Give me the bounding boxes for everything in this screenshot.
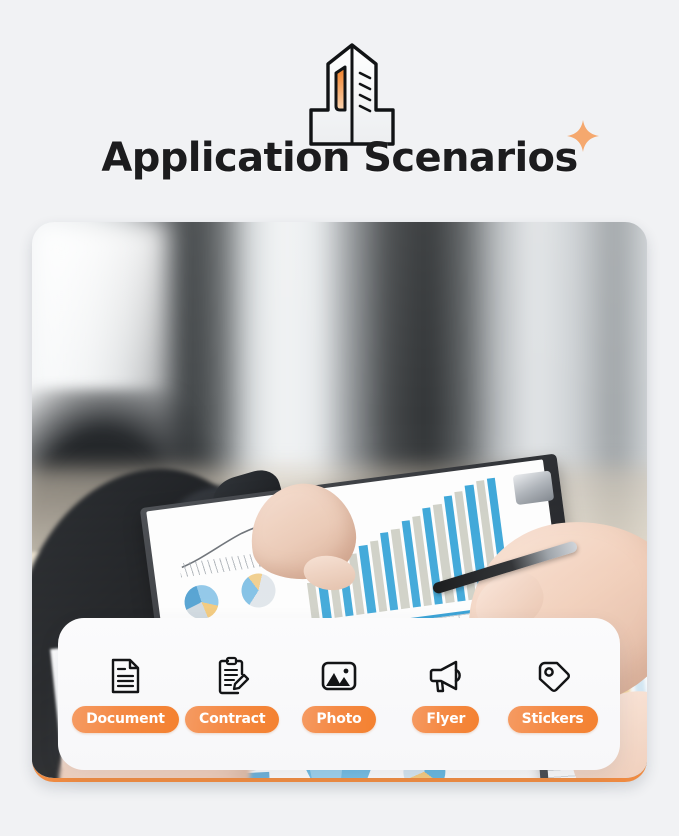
category-card: Document Contract Photo — [58, 618, 620, 770]
category-item-contract[interactable]: Contract — [179, 656, 285, 733]
category-label-flyer[interactable]: Flyer — [412, 706, 479, 733]
category-label-photo[interactable]: Photo — [302, 706, 375, 733]
category-item-flyer[interactable]: Flyer — [393, 656, 499, 733]
building-icon — [297, 40, 407, 148]
sparkle-icon — [566, 119, 600, 153]
page-pie-chart-1 — [182, 583, 220, 621]
image-icon — [319, 656, 359, 696]
category-item-document[interactable]: Document — [72, 656, 178, 733]
clipboard-clip — [513, 470, 555, 505]
document-icon — [105, 656, 145, 696]
megaphone-icon — [426, 656, 466, 696]
category-item-stickers[interactable]: Stickers — [500, 656, 606, 733]
clipboard-pencil-icon — [212, 656, 252, 696]
category-label-document[interactable]: Document — [72, 706, 179, 733]
page-title: Application Scenarios — [101, 134, 577, 182]
page-pie-chart-2 — [239, 571, 277, 609]
category-label-stickers[interactable]: Stickers — [508, 706, 598, 733]
category-item-photo[interactable]: Photo — [286, 656, 392, 733]
tag-icon — [533, 656, 573, 696]
category-label-contract[interactable]: Contract — [185, 706, 279, 733]
header: Application Scenarios — [0, 0, 679, 212]
